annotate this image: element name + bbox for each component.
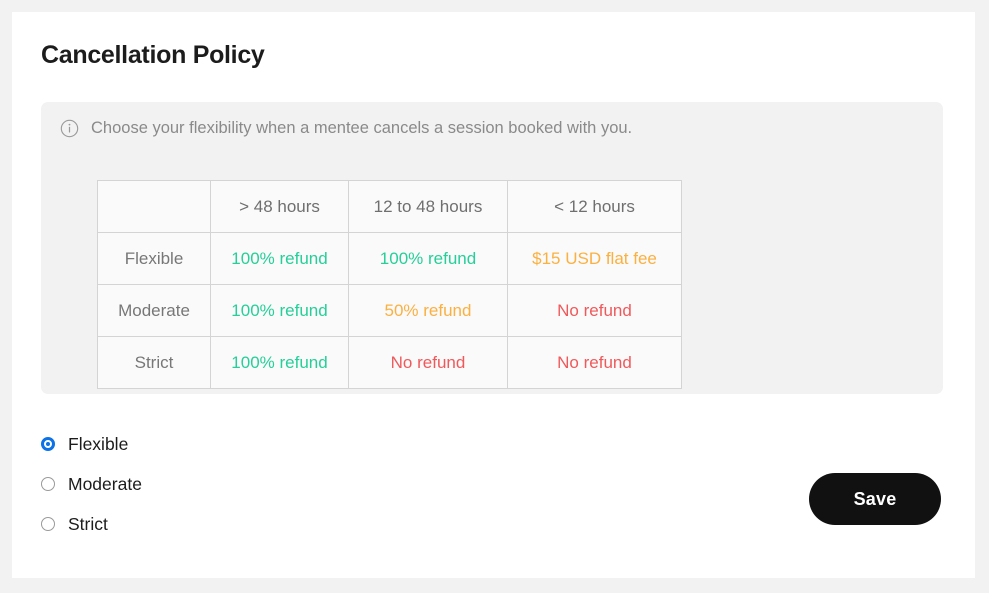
column-header-12-to-48-hours: 12 to 48 hours: [349, 181, 508, 233]
cell-strict-12-to-48-hours: No refund: [349, 337, 508, 389]
cell-moderate-lt-12-hours: No refund: [508, 285, 682, 337]
radio-button-strict[interactable]: [41, 517, 55, 531]
policy-radio-group: Flexible Moderate Strict: [41, 424, 441, 544]
info-circle-icon: [60, 119, 79, 138]
cell-flexible-lt-12-hours: $15 USD flat fee: [508, 233, 682, 285]
column-header-lt-12-hours: < 12 hours: [508, 181, 682, 233]
cell-flexible-gt-48-hours: 100% refund: [211, 233, 349, 285]
radio-button-flexible[interactable]: [41, 437, 55, 451]
column-header-gt-48-hours: > 48 hours: [211, 181, 349, 233]
cell-strict-gt-48-hours: 100% refund: [211, 337, 349, 389]
cancellation-policy-card: Cancellation Policy Choose your flexibil…: [12, 12, 975, 578]
page-title: Cancellation Policy: [41, 41, 265, 70]
radio-label-flexible: Flexible: [68, 434, 128, 455]
row-label-flexible: Flexible: [98, 233, 211, 285]
radio-label-strict: Strict: [68, 514, 108, 535]
policy-info-panel: Choose your flexibility when a mentee ca…: [41, 102, 943, 394]
cell-moderate-gt-48-hours: 100% refund: [211, 285, 349, 337]
save-button[interactable]: Save: [809, 473, 941, 525]
refund-policy-table: > 48 hours 12 to 48 hours < 12 hours Fle…: [97, 180, 682, 389]
radio-label-moderate: Moderate: [68, 474, 142, 495]
radio-option-flexible[interactable]: Flexible: [41, 424, 441, 464]
info-message-row: Choose your flexibility when a mentee ca…: [60, 119, 632, 138]
row-label-moderate: Moderate: [98, 285, 211, 337]
row-label-strict: Strict: [98, 337, 211, 389]
info-message-text: Choose your flexibility when a mentee ca…: [91, 120, 632, 137]
radio-button-moderate[interactable]: [41, 477, 55, 491]
table-row: Strict 100% refund No refund No refund: [98, 337, 682, 389]
table-header-row: > 48 hours 12 to 48 hours < 12 hours: [98, 181, 682, 233]
table-row: Moderate 100% refund 50% refund No refun…: [98, 285, 682, 337]
table-corner-cell: [98, 181, 211, 233]
cell-strict-lt-12-hours: No refund: [508, 337, 682, 389]
table-row: Flexible 100% refund 100% refund $15 USD…: [98, 233, 682, 285]
cell-moderate-12-to-48-hours: 50% refund: [349, 285, 508, 337]
radio-option-moderate[interactable]: Moderate: [41, 464, 441, 504]
radio-option-strict[interactable]: Strict: [41, 504, 441, 544]
cell-flexible-12-to-48-hours: 100% refund: [349, 233, 508, 285]
